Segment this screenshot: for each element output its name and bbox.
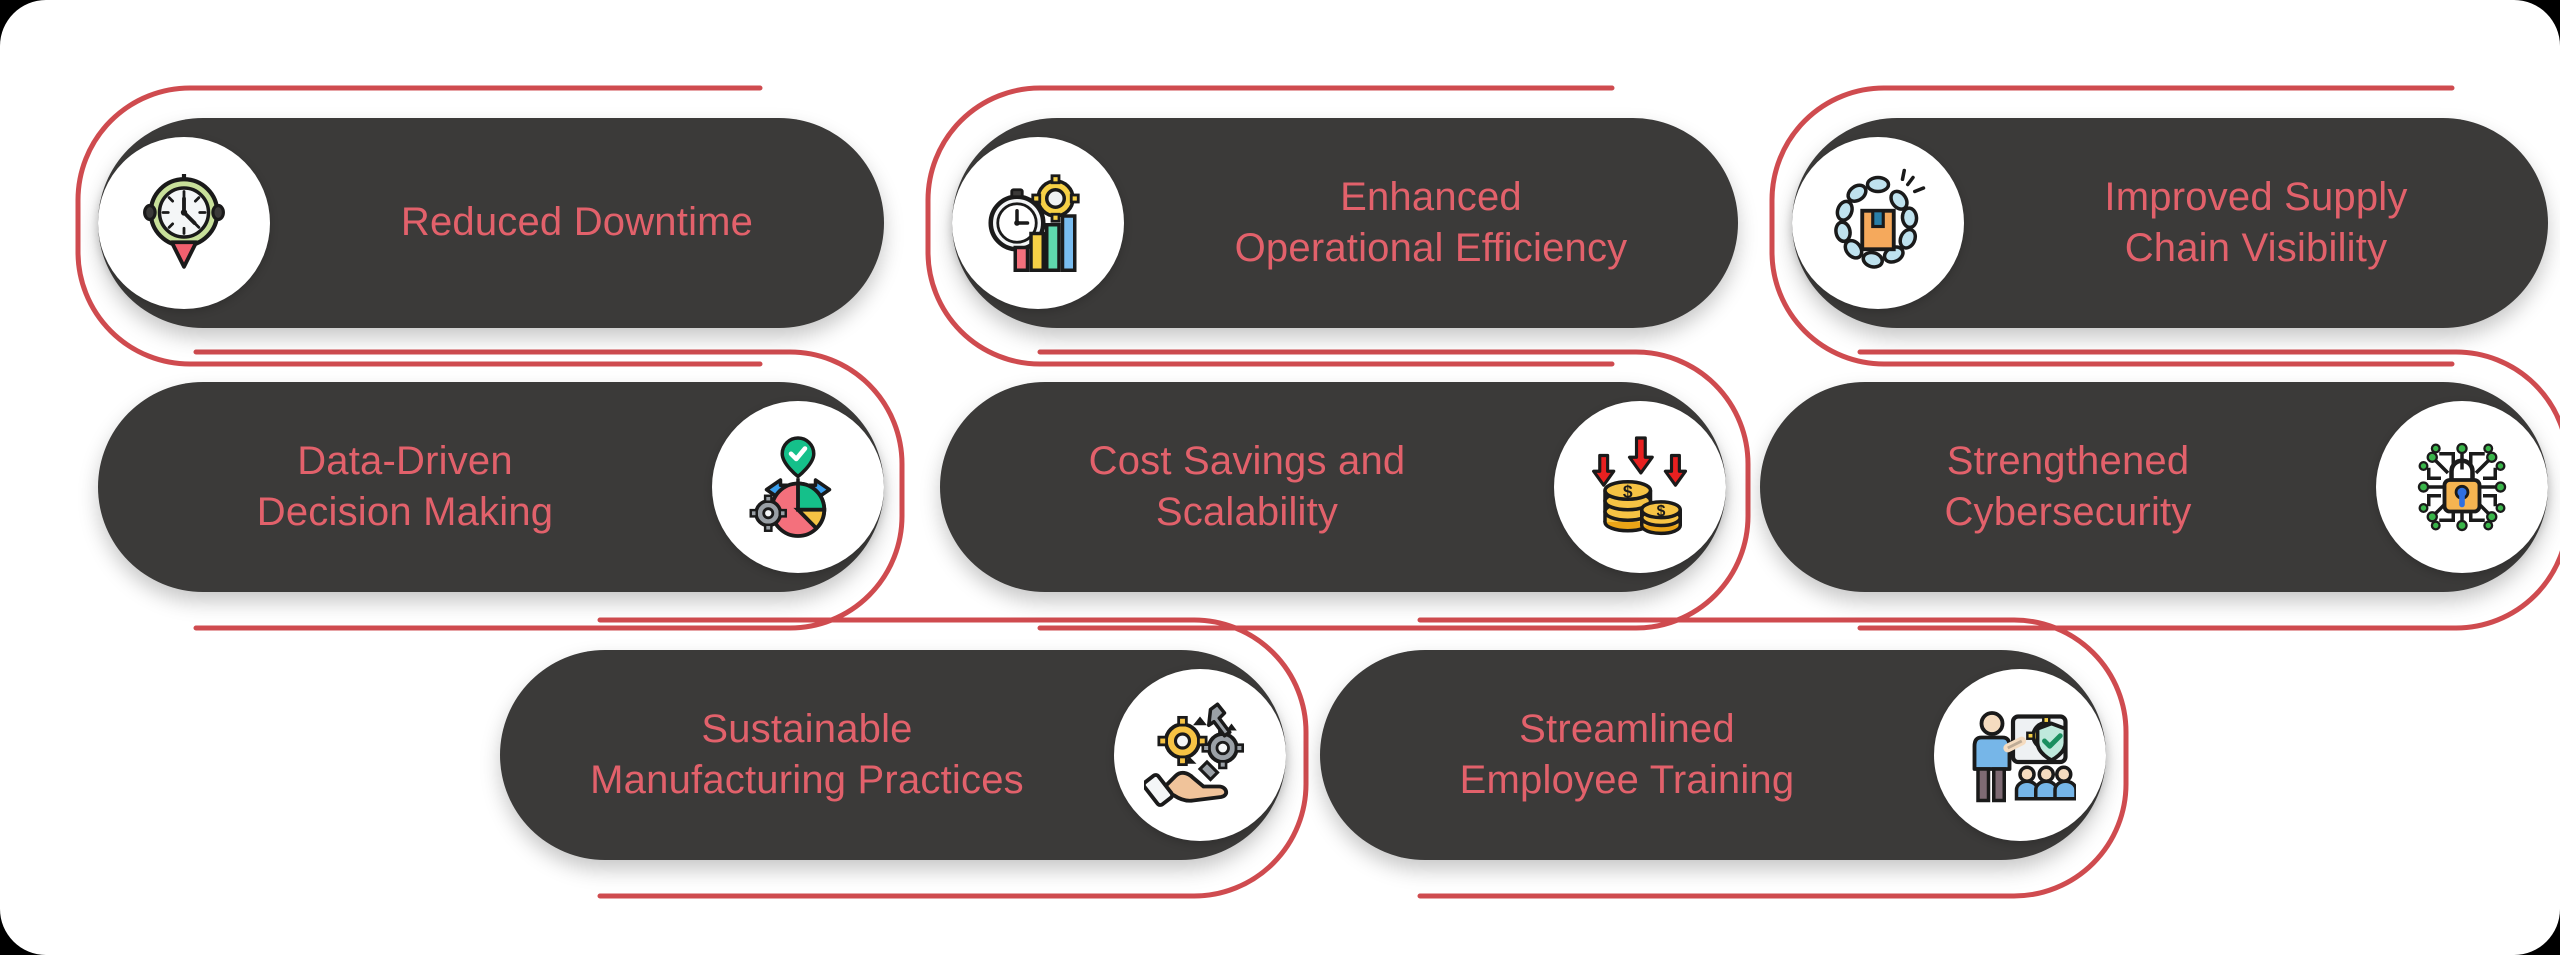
card-strengthened-cybersecurity[interactable]: Strengthened Cybersecurity	[1760, 382, 2548, 592]
card-data-driven-decision-making[interactable]: Data-Driven Decision Making	[98, 382, 884, 592]
card-label: Data-Driven Decision Making	[98, 436, 712, 538]
card-label: Improved Supply Chain Visibility	[1964, 172, 2548, 274]
card-cost-savings-and-scalability[interactable]: $ $ Cost Savings and Scalability	[940, 382, 1726, 592]
card-enhanced-operational-efficiency[interactable]: Enhanced Operational Efficiency	[952, 118, 1738, 328]
chain-box-icon	[1792, 137, 1964, 309]
card-label: Reduced Downtime	[270, 197, 884, 248]
card-improved-supply-chain-visibility[interactable]: Improved Supply Chain Visibility	[1792, 118, 2548, 328]
card-sustainable-manufacturing-practices[interactable]: Sustainable Manufacturing Practices	[500, 650, 1286, 860]
card-label: Sustainable Manufacturing Practices	[500, 704, 1114, 806]
card-label: Cost Savings and Scalability	[940, 436, 1554, 538]
card-reduced-downtime[interactable]: Reduced Downtime	[98, 118, 884, 328]
card-label: Enhanced Operational Efficiency	[1124, 172, 1738, 274]
infographic-canvas: Reduced Downtime	[0, 0, 2560, 955]
clock-down-arrow-icon	[98, 137, 270, 309]
circuit-lock-icon	[2376, 401, 2548, 573]
svg-text:$: $	[1623, 482, 1633, 502]
card-label: Streamlined Employee Training	[1320, 704, 1934, 806]
pie-chart-arrows-check-icon	[712, 401, 884, 573]
card-streamlined-employee-training[interactable]: Streamlined Employee Training	[1320, 650, 2106, 860]
stopwatch-gear-bar-chart-icon	[952, 137, 1124, 309]
svg-text:$: $	[1657, 503, 1666, 520]
hand-gears-wrench-icon	[1114, 669, 1286, 841]
coins-down-arrows-icon: $ $	[1554, 401, 1726, 573]
trainer-board-audience-icon	[1934, 669, 2106, 841]
card-label: Strengthened Cybersecurity	[1760, 436, 2376, 538]
